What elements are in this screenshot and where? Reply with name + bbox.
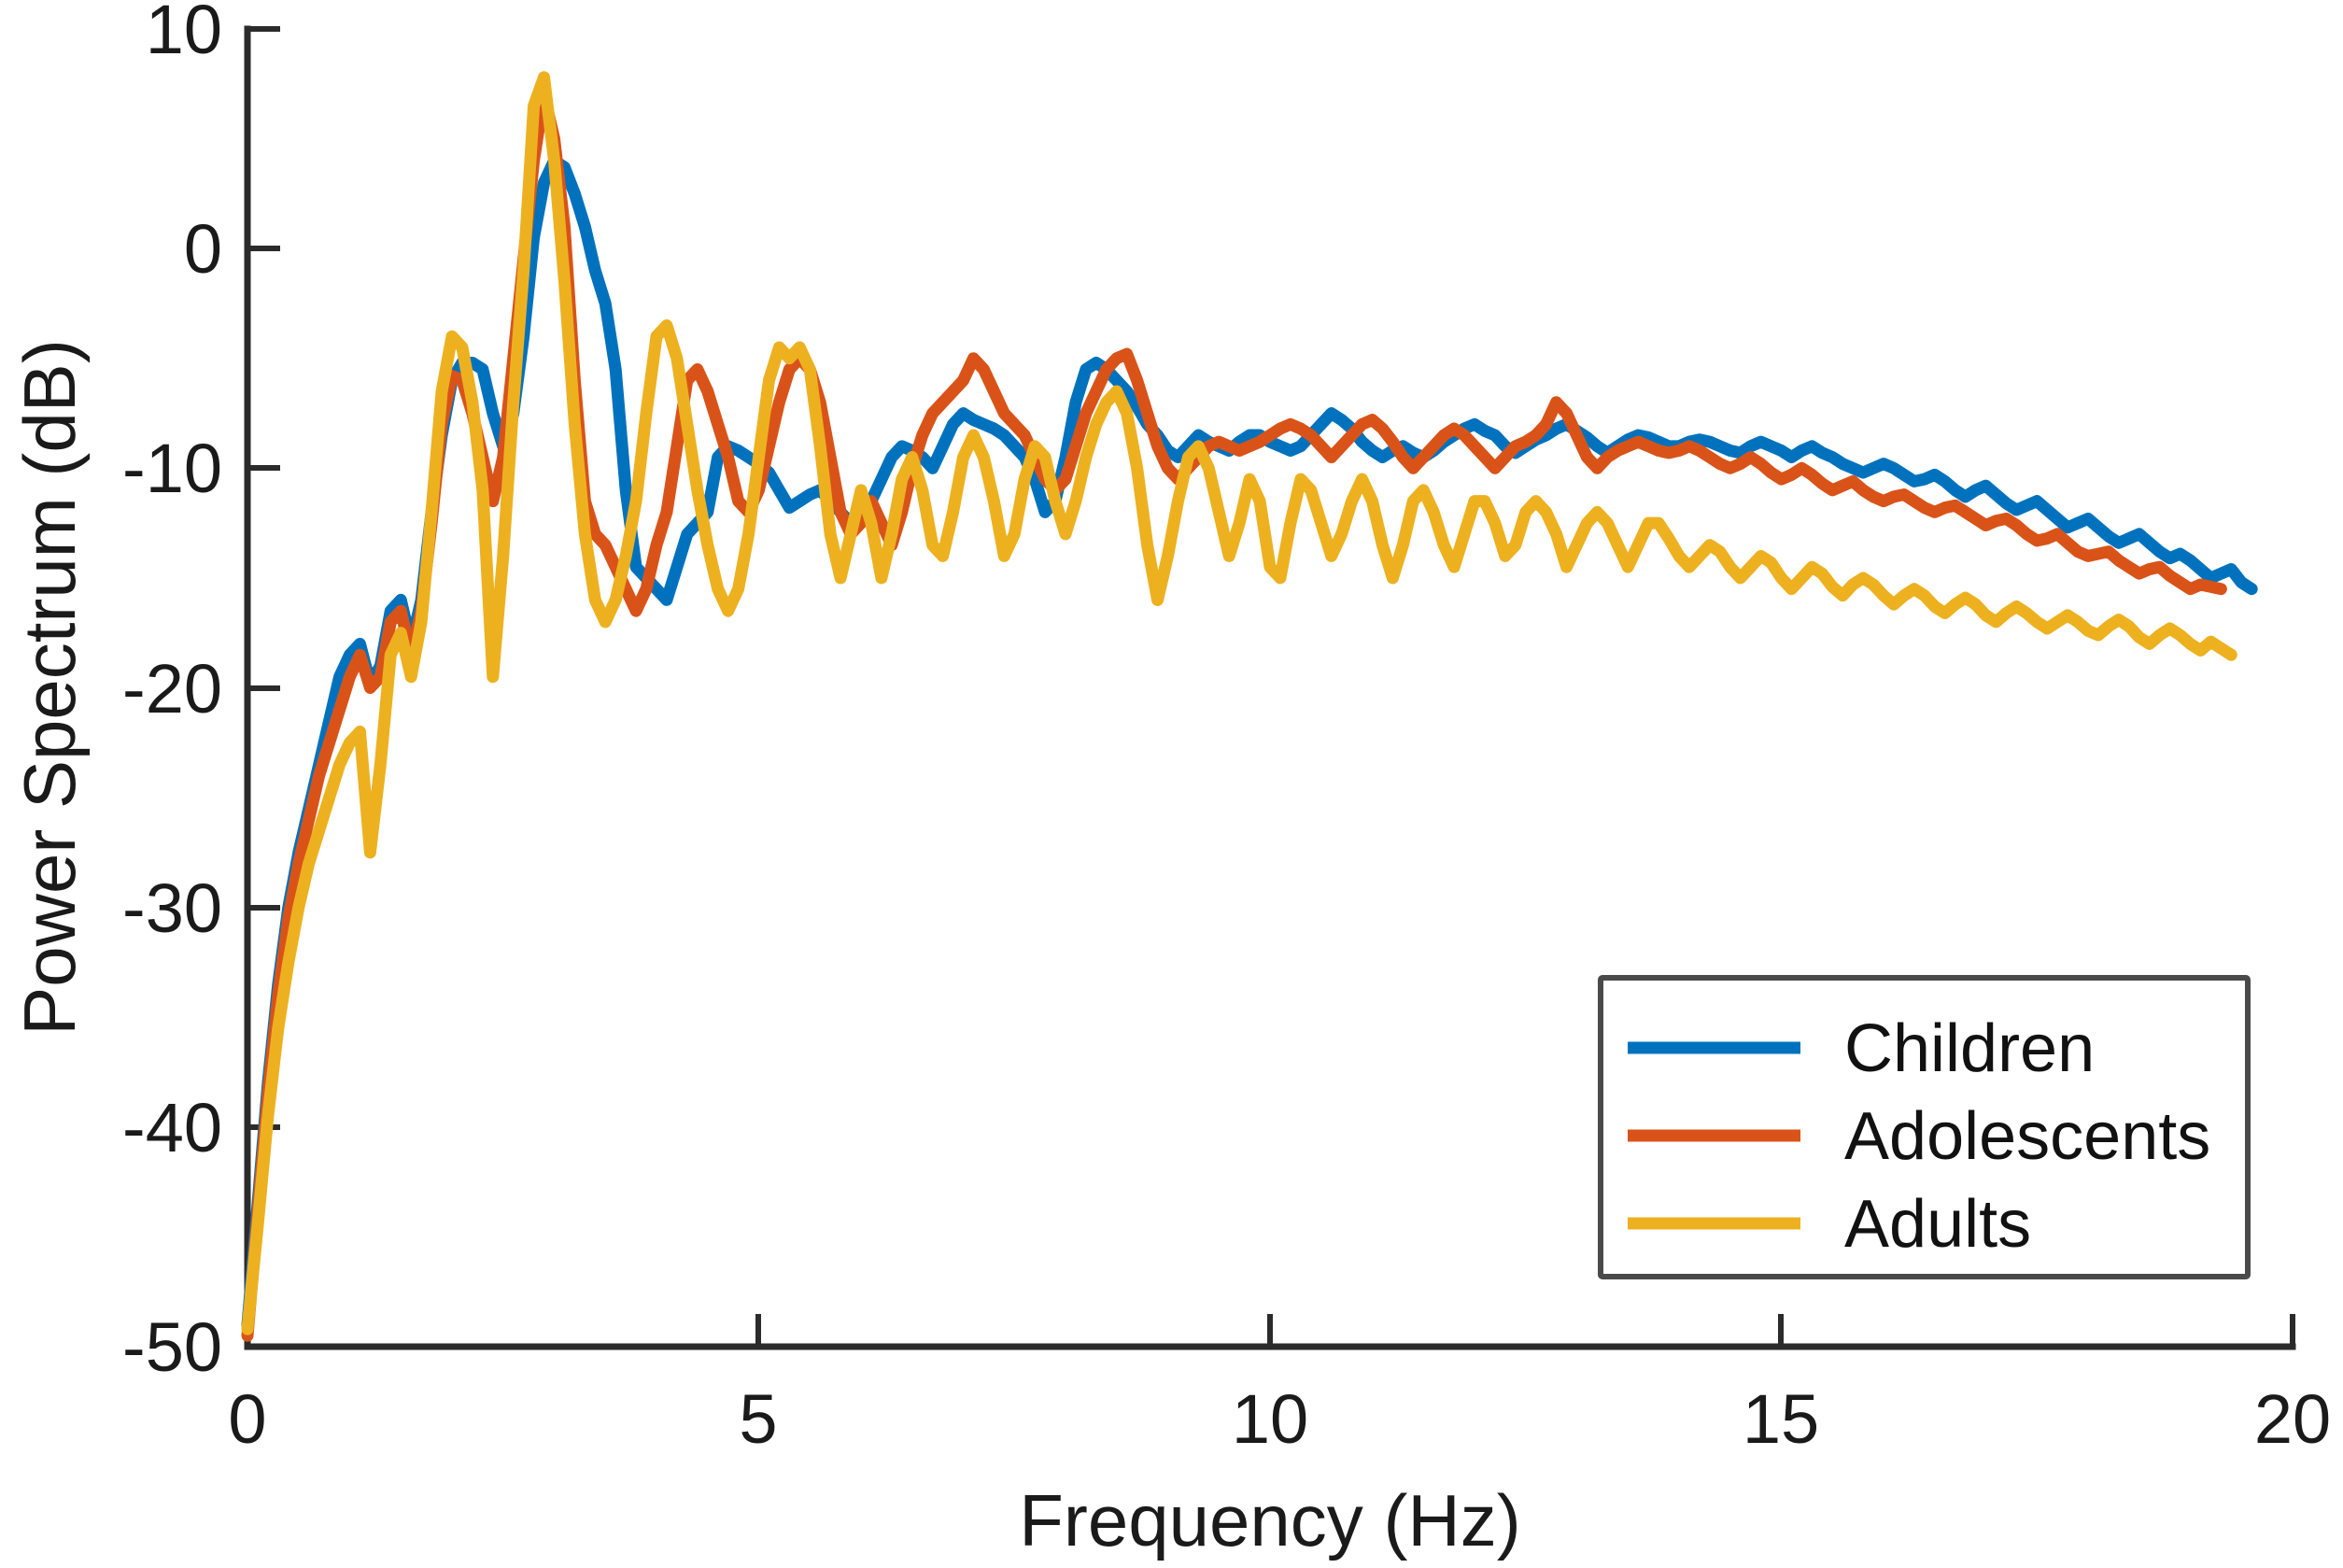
- figure-container: 10 0 -10 -20 -30 -40 -50 0 5 10 15 20 Fr…: [0, 0, 2343, 1568]
- y-tick-label: -10: [122, 430, 222, 507]
- power-spectrum-chart: 10 0 -10 -20 -30 -40 -50 0 5 10 15 20 Fr…: [0, 0, 2343, 1568]
- x-axis-title: Frequency (Hz): [1019, 1479, 1520, 1561]
- x-tick-label: 10: [1232, 1380, 1308, 1458]
- x-tick-label: 5: [739, 1380, 777, 1458]
- y-tick-label: -40: [122, 1089, 222, 1166]
- y-tick-label: 10: [146, 0, 222, 68]
- x-tick-label: 15: [1743, 1380, 1819, 1458]
- y-tick-label: 0: [184, 210, 222, 288]
- legend[interactable]: Children Adolescents Adults: [1601, 978, 2248, 1277]
- y-tick-label: -50: [122, 1308, 222, 1386]
- legend-label-adolescents[interactable]: Adolescents: [1844, 1099, 2210, 1174]
- legend-label-children[interactable]: Children: [1844, 1011, 2095, 1086]
- x-tick-label: 20: [2254, 1380, 2331, 1458]
- y-tick-label: -20: [122, 650, 222, 727]
- y-axis-title: Power Spectrum (dB): [8, 339, 91, 1036]
- x-tick-label: 0: [228, 1380, 266, 1458]
- legend-label-adults[interactable]: Adults: [1844, 1187, 2031, 1262]
- plot-background: [0, 0, 2343, 1568]
- y-tick-label: -30: [122, 869, 222, 947]
